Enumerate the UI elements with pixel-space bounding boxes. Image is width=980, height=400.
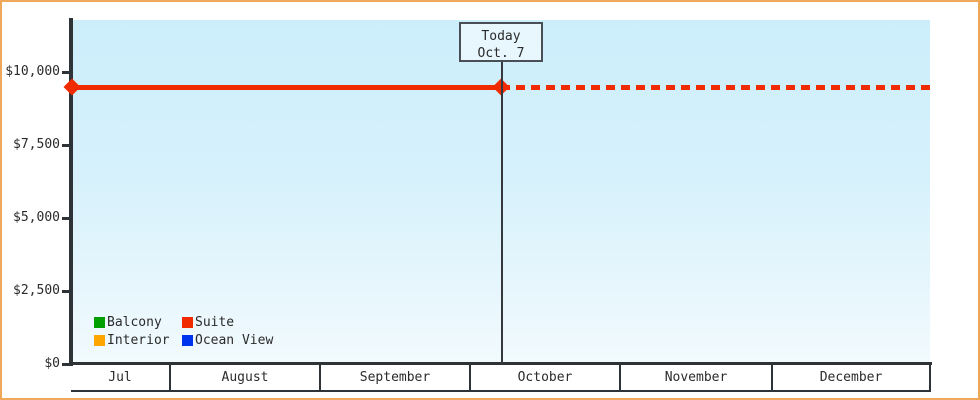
y-tick-label: $7,500 — [13, 138, 60, 151]
y-tick-label-wrap: $2,500 — [2, 284, 60, 297]
month-cell-august[interactable]: August — [171, 364, 321, 392]
y-tick-mark — [62, 290, 70, 293]
legend-swatch-icon — [94, 335, 105, 346]
price-forecast-chart: $10,000$7,500$5,000$2,500$0 Today Oct. 7… — [0, 0, 980, 400]
y-tick-label: $10,000 — [5, 65, 60, 78]
legend-item-label: Ocean View — [195, 334, 273, 347]
y-tick-label-wrap: $10,000 — [2, 65, 60, 78]
y-tick-label-wrap: $0 — [2, 357, 60, 370]
today-callout-line1: Today — [461, 28, 541, 45]
month-axis-band: JulAugustSeptemberOctoberNovemberDecembe… — [71, 364, 931, 392]
y-tick-label-wrap: $7,500 — [2, 138, 60, 151]
y-tick-mark — [62, 363, 70, 366]
legend-row: BalconySuite — [94, 313, 273, 331]
chart-legend: BalconySuiteInteriorOcean View — [94, 313, 273, 349]
y-tick-mark — [62, 217, 70, 220]
legend-item-interior[interactable]: Interior — [94, 334, 182, 347]
y-tick-label: $2,500 — [13, 284, 60, 297]
series-line-suite-actual — [72, 85, 501, 90]
month-cell-jul[interactable]: Jul — [71, 364, 171, 392]
legend-item-balcony[interactable]: Balcony — [94, 316, 182, 329]
month-cell-october[interactable]: October — [471, 364, 621, 392]
legend-swatch-icon — [94, 317, 105, 328]
today-callout: Today Oct. 7 — [459, 22, 543, 62]
series-line-suite-forecast — [501, 85, 930, 90]
legend-item-label: Suite — [195, 316, 234, 329]
legend-row: InteriorOcean View — [94, 331, 273, 349]
y-tick-label: $5,000 — [13, 211, 60, 224]
today-callout-line2: Oct. 7 — [461, 45, 541, 62]
month-cell-november[interactable]: November — [621, 364, 773, 392]
y-tick-mark — [62, 71, 70, 74]
legend-swatch-icon — [182, 317, 193, 328]
y-tick-mark — [62, 144, 70, 147]
legend-swatch-icon — [182, 335, 193, 346]
today-line — [501, 22, 503, 364]
month-cell-december[interactable]: December — [773, 364, 929, 392]
month-cell-september[interactable]: September — [321, 364, 471, 392]
legend-item-suite[interactable]: Suite — [182, 316, 234, 329]
legend-item-label: Interior — [107, 334, 170, 347]
y-tick-label-wrap: $5,000 — [2, 211, 60, 224]
legend-item-label: Balcony — [107, 316, 162, 329]
legend-item-ocean-view[interactable]: Ocean View — [182, 334, 273, 347]
y-tick-label: $0 — [44, 357, 60, 370]
